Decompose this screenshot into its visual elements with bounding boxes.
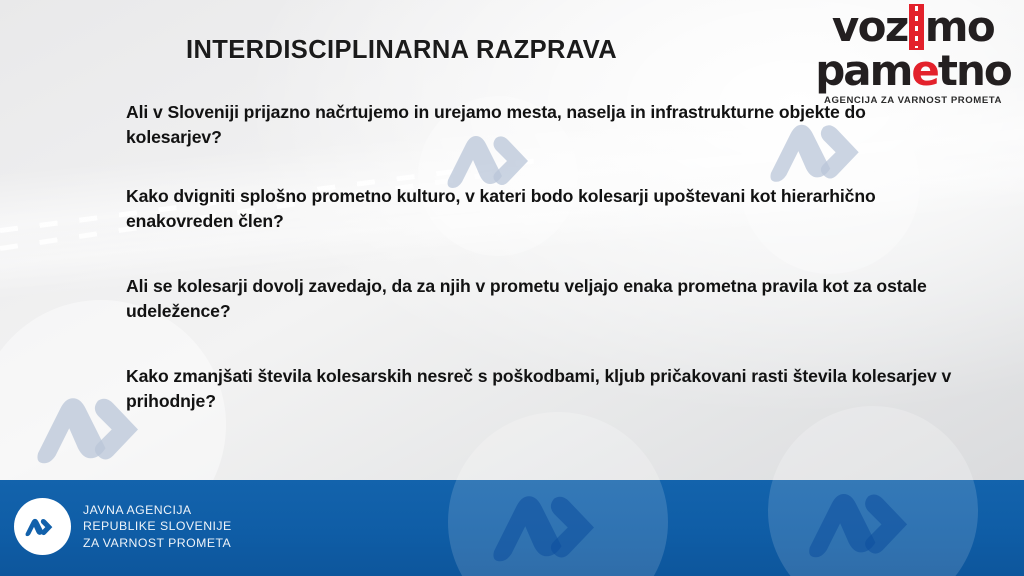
brand-voz-text: voz bbox=[832, 2, 908, 51]
slide-canvas: INTERDISCIPLINARNA RAZPRAVA vozmo pametn… bbox=[0, 0, 1024, 576]
brand-logo-vozimo-pametno: vozmo pametno AGENCIJA ZA VARNOST PROMET… bbox=[813, 4, 1013, 106]
agency-line-1: JAVNA AGENCIJA bbox=[83, 502, 232, 518]
brand-wordmark-line2: pametno bbox=[813, 52, 1013, 91]
brand-wordmark-line1: vozmo bbox=[813, 4, 1013, 50]
brand-accent-e-text: e bbox=[911, 46, 938, 95]
watermark-avp-footer-right bbox=[768, 480, 978, 576]
road-letter-i-icon bbox=[909, 4, 924, 50]
question-item: Kako dvigniti splošno prometno kulturo, … bbox=[126, 184, 966, 234]
footer-bar: JAVNA AGENCIJA REPUBLIKE SLOVENIJE ZA VA… bbox=[0, 480, 1024, 576]
brand-tno-text: tno bbox=[938, 46, 1011, 95]
agency-line-3: ZA VARNOST PROMETA bbox=[83, 535, 232, 551]
question-item: Ali v Sloveniji prijazno načrtujemo in u… bbox=[126, 100, 966, 150]
brand-mo-text: mo bbox=[925, 2, 994, 51]
footer-identity-block: JAVNA AGENCIJA REPUBLIKE SLOVENIJE ZA VA… bbox=[14, 498, 232, 555]
avp-logo-icon bbox=[14, 498, 71, 555]
brand-pam-text: pam bbox=[815, 46, 911, 95]
agency-name: JAVNA AGENCIJA REPUBLIKE SLOVENIJE ZA VA… bbox=[83, 502, 232, 551]
question-item: Kako zmanjšati številа kolesarskih nesre… bbox=[126, 364, 966, 414]
agency-line-2: REPUBLIKE SLOVENIJE bbox=[83, 518, 232, 534]
question-item: Ali se kolesarji dovolj zavedajo, da za … bbox=[126, 274, 966, 324]
watermark-avp-footer-center bbox=[448, 480, 668, 576]
page-title: INTERDISCIPLINARNA RAZPRAVA bbox=[186, 36, 617, 65]
questions-list: Ali v Sloveniji prijazno načrtujemo in u… bbox=[126, 100, 966, 414]
